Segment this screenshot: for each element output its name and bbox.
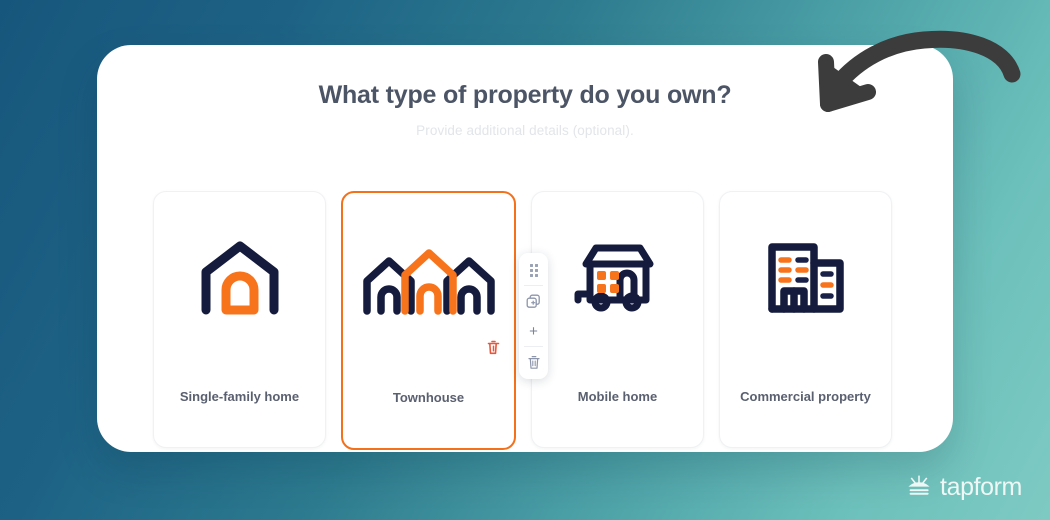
trash-icon[interactable] <box>519 347 548 377</box>
option-label: Commercial property <box>730 388 881 406</box>
delete-option-button[interactable] <box>486 339 500 355</box>
option-label: Single-family home <box>164 388 315 406</box>
option-label: Townhouse <box>353 389 504 407</box>
drag-dots <box>530 264 538 277</box>
tapform-logo: tapform <box>906 473 1022 502</box>
office-buildings-icon <box>720 232 891 324</box>
screenshot-root: What type of property do you own? Provid… <box>0 0 1050 520</box>
three-row-houses-icon <box>343 233 514 325</box>
tapform-wordmark: tapform <box>940 473 1022 502</box>
curved-arrow-down-left-icon <box>806 26 1021 136</box>
option-card-mobile-home[interactable]: Mobile home <box>531 191 704 448</box>
drag-handle-icon[interactable] <box>519 255 548 285</box>
tapform-leaf-icon <box>906 473 932 502</box>
option-card-single-family-home[interactable]: Single-family home <box>153 191 326 448</box>
add-label: + <box>529 324 538 339</box>
option-label: Mobile home <box>542 388 693 406</box>
mobile-home-trailer-icon <box>532 232 703 324</box>
block-edit-toolbar[interactable]: + <box>519 253 548 379</box>
duplicate-icon[interactable] <box>519 286 548 316</box>
house-with-door-icon <box>154 232 325 324</box>
add-icon[interactable]: + <box>519 316 548 346</box>
option-card-townhouse[interactable]: Townhouse <box>341 191 516 450</box>
option-card-commercial-property[interactable]: Commercial property <box>719 191 892 448</box>
